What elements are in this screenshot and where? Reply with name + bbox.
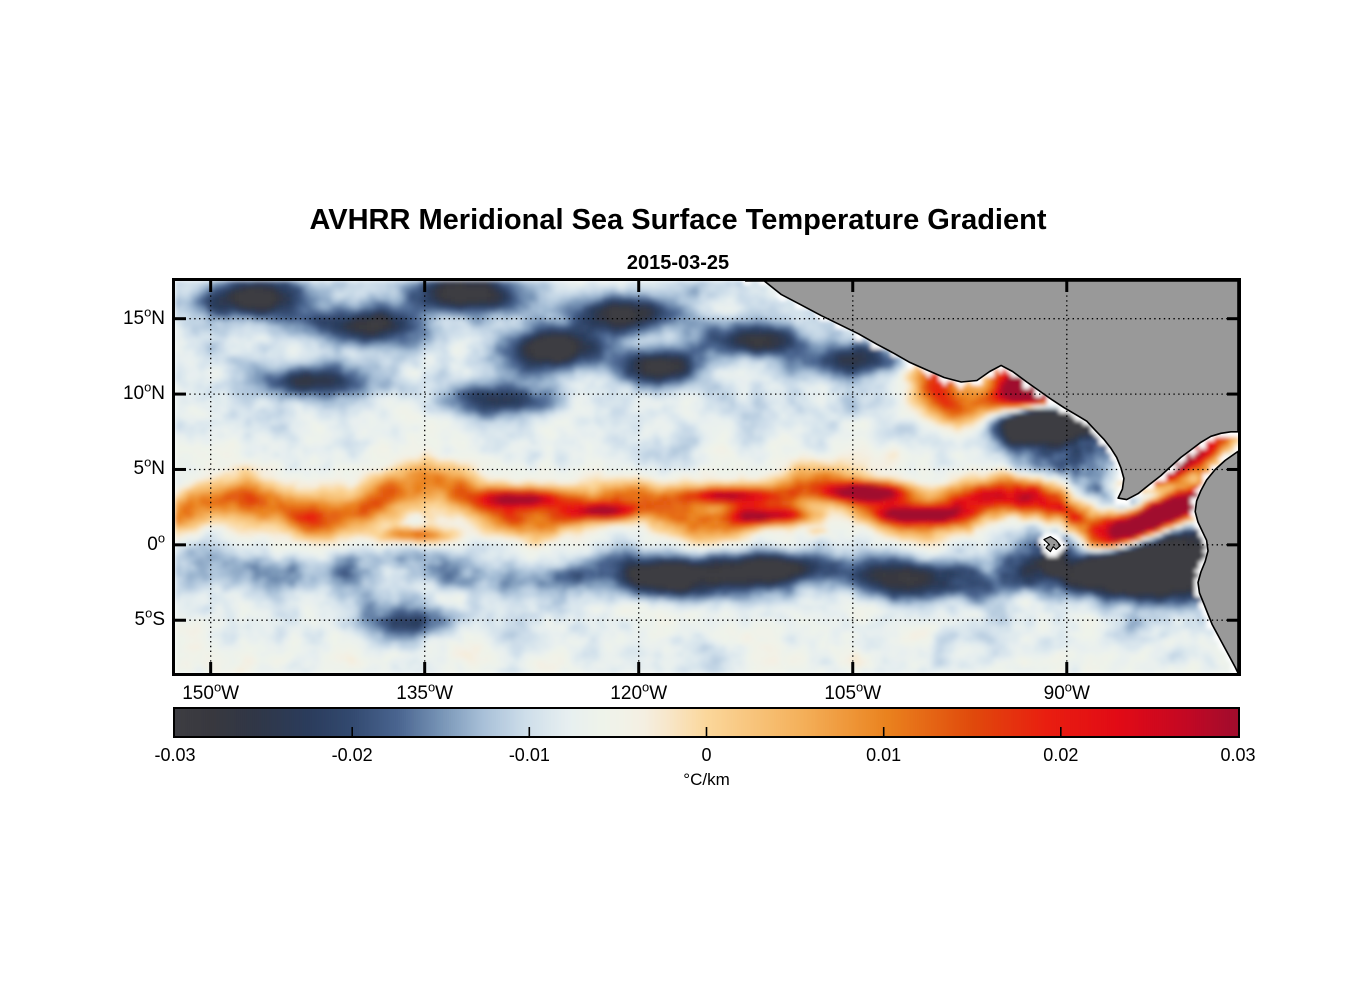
- colorbar-tick-label-5: 0.02: [1043, 745, 1078, 766]
- y-tick-label-1: 10oN: [87, 383, 165, 405]
- y-tick-label-2: 5oN: [87, 458, 165, 480]
- x-tick-label-2: 120oW: [610, 683, 667, 705]
- sst-gradient-map[interactable]: [175, 281, 1238, 673]
- colorbar-tick-label-4: 0.01: [866, 745, 901, 766]
- x-tick-label-3: 105oW: [824, 683, 881, 705]
- colorbar-unit-label: °C/km: [683, 770, 729, 790]
- colorbar-tick-label-2: -0.01: [509, 745, 550, 766]
- x-tick-label-0: 150oW: [182, 683, 239, 705]
- x-tick-label-1: 135oW: [396, 683, 453, 705]
- y-tick-label-4: 5oS: [87, 609, 165, 631]
- subtitle-date: 2015-03-25: [0, 252, 1356, 275]
- x-tick-label-4: 90oW: [1044, 683, 1090, 705]
- colorbar-tick-label-0: -0.03: [154, 745, 195, 766]
- figure-canvas: AVHRR Meridional Sea Surface Temperature…: [0, 0, 1356, 1000]
- colorbar-frame: [173, 707, 1240, 738]
- colorbar-tick-label-1: -0.02: [332, 745, 373, 766]
- y-tick-label-0: 15oN: [87, 308, 165, 330]
- page-title: AVHRR Meridional Sea Surface Temperature…: [0, 204, 1356, 237]
- colorbar-tick-label-3: 0: [701, 745, 711, 766]
- y-tick-label-3: 0o: [87, 534, 165, 556]
- colorbar-tick-label-6: 0.03: [1220, 745, 1255, 766]
